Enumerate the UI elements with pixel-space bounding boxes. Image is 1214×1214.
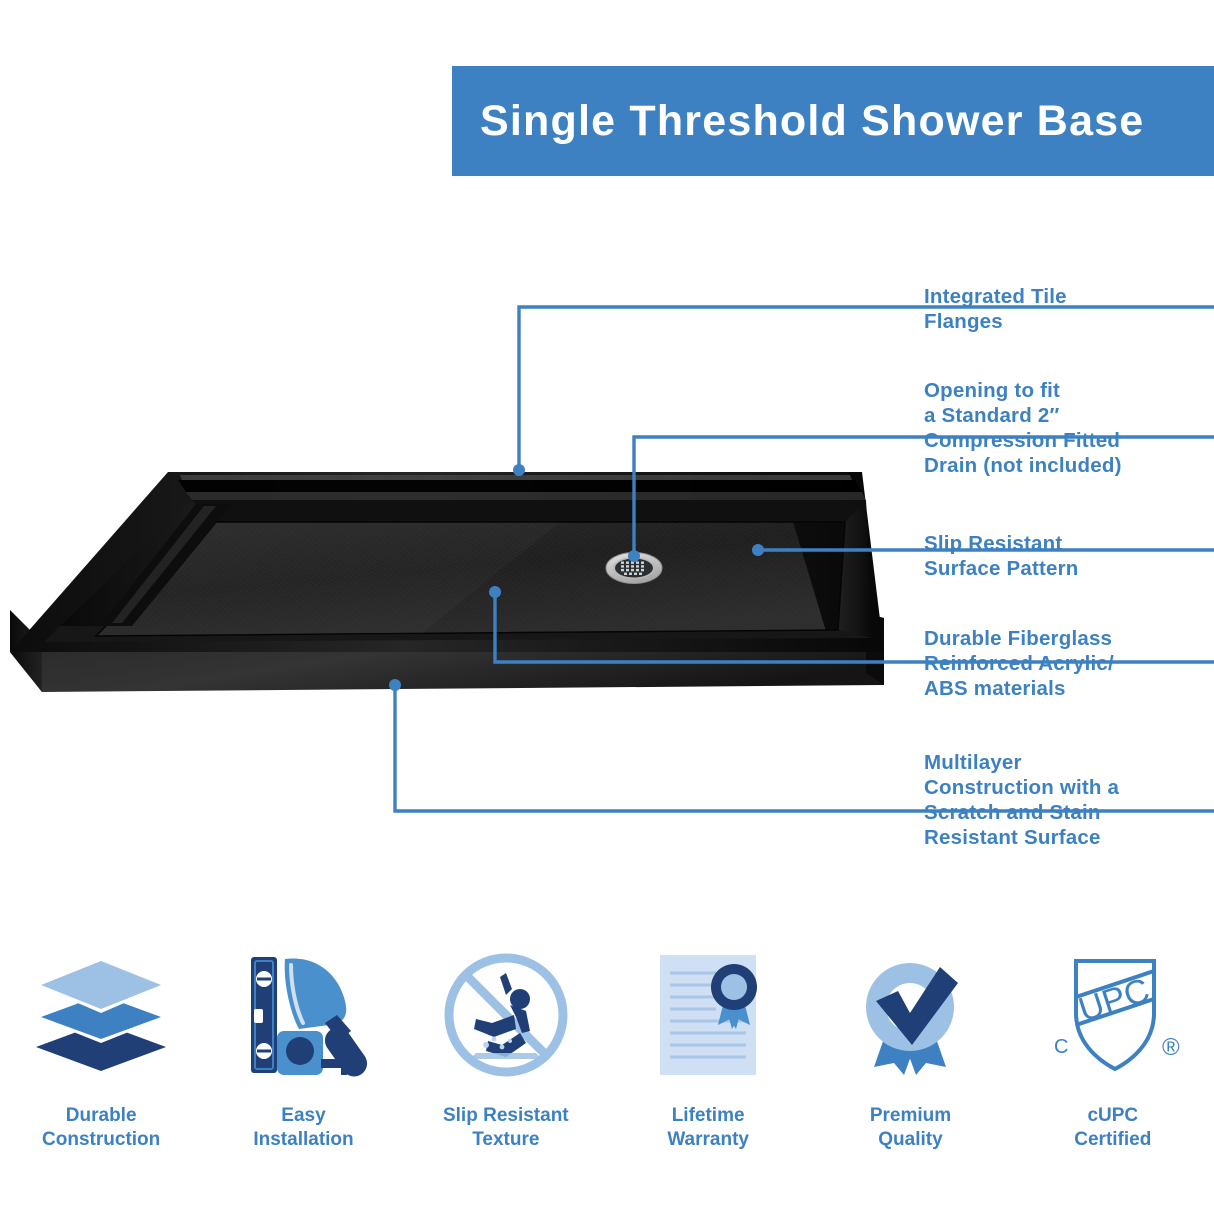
- slip-resistant-floor: [96, 522, 845, 636]
- page-title: Single Threshold Shower Base: [480, 97, 1144, 146]
- feature-slip-resistant-texture: Slip Resistant Texture: [405, 940, 607, 1200]
- product-image-shower-base: [0, 430, 920, 720]
- basin-wall-back: [192, 500, 866, 522]
- feature-label: cUPC Certified: [1074, 1104, 1151, 1152]
- feature-label: Lifetime Warranty: [667, 1104, 749, 1152]
- upc-text: UPC: [1074, 971, 1154, 1029]
- layers-icon: [31, 940, 171, 1090]
- feature-label: Easy Installation: [253, 1104, 353, 1152]
- feature-premium-quality: Premium Quality: [809, 940, 1011, 1200]
- base-front-face: [10, 652, 884, 692]
- title-banner: Single Threshold Shower Base: [452, 66, 1214, 176]
- callout-durable-fiberglass-materials: Durable Fiberglass Reinforced Acrylic/ A…: [924, 626, 1114, 701]
- feature-lifetime-warranty: Lifetime Warranty: [607, 940, 809, 1200]
- feature-durable-construction: Durable Construction: [0, 940, 202, 1200]
- upc-left-mark: C: [1054, 1036, 1068, 1058]
- rim-specular: [180, 475, 852, 480]
- shower-base-render: [0, 430, 920, 720]
- feature-easy-installation: Easy Installation: [202, 940, 404, 1200]
- drain-grate: [606, 553, 662, 584]
- feature-label: Slip Resistant Texture: [443, 1104, 569, 1152]
- feature-cupc-certified: UPC C ® cUPC Certified: [1012, 940, 1214, 1200]
- certificate-icon: [638, 940, 778, 1090]
- upc-registered-mark: ®: [1162, 1034, 1180, 1061]
- no-slip-icon: [436, 940, 576, 1090]
- callout-integrated-tile-flanges: Integrated Tile Flanges: [924, 284, 1067, 334]
- callout-slip-resistant-surface-pattern: Slip Resistant Surface Pattern: [924, 531, 1079, 581]
- feature-strip: Durable Construction: [0, 940, 1214, 1200]
- feature-label: Durable Construction: [42, 1104, 160, 1152]
- upc-shield-icon: UPC C ®: [1038, 940, 1188, 1090]
- threshold-groove: [178, 480, 862, 492]
- feature-label: Premium Quality: [870, 1104, 951, 1152]
- threshold-highlight: [186, 492, 866, 500]
- callout-drain-opening: Opening to fit a Standard 2″ Compression…: [924, 378, 1122, 478]
- callout-multilayer-construction: Multilayer Construction with a Scratch a…: [924, 750, 1119, 850]
- check-badge-icon: [840, 940, 980, 1090]
- level-trowel-icon: [233, 940, 373, 1090]
